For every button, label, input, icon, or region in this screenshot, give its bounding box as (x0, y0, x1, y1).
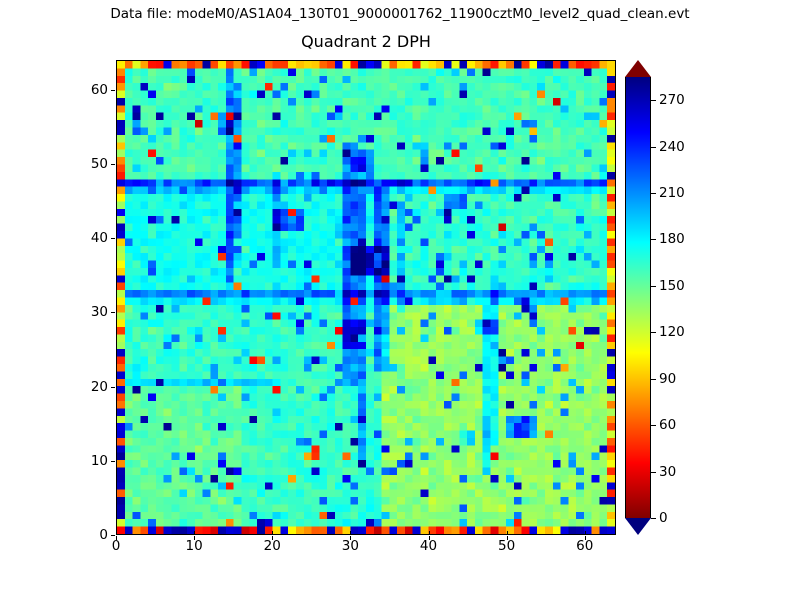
y-axis-tick-labels: 0102030405060 (56, 60, 111, 535)
colorbar-tick-label: 180 (659, 231, 685, 247)
x-axis-tick (585, 531, 586, 535)
y-axis-tick (111, 164, 115, 165)
colorbar-tick-label: 270 (659, 92, 685, 108)
colorbar-tick-label: 0 (659, 510, 668, 526)
y-axis-tick-label: 60 (91, 82, 108, 98)
colorbar-tick-label: 30 (659, 464, 676, 480)
plot-title: Quadrant 2 DPH (116, 32, 616, 51)
colorbar-tick (651, 100, 656, 101)
heatmap-axes[interactable] (116, 60, 616, 535)
x-axis-tick-labels: 0102030405060 (116, 537, 616, 559)
data-file-label: Data file: modeM0/AS1A04_130T01_90000017… (0, 6, 800, 22)
colorbar-tick (651, 332, 656, 333)
heatmap-image[interactable] (117, 61, 615, 534)
colorbar-tick-label: 90 (659, 371, 676, 387)
colorbar-tick-label: 240 (659, 139, 685, 155)
colorbar-tick-label: 60 (659, 417, 676, 433)
x-axis-tick (272, 531, 273, 535)
x-axis-tick (507, 531, 508, 535)
y-axis-tick-label: 20 (91, 379, 108, 395)
colorbar-tick-labels: 0306090120150180210240270 (625, 60, 695, 535)
x-axis-tick-label: 20 (264, 538, 281, 554)
x-axis-tick-label: 0 (112, 538, 121, 554)
colorbar-tick (651, 472, 656, 473)
x-axis-tick-label: 10 (186, 538, 203, 554)
x-axis-tick-label: 60 (576, 538, 593, 554)
y-axis-tick (111, 387, 115, 388)
colorbar-tick (651, 239, 656, 240)
colorbar-tick-label: 210 (659, 185, 685, 201)
y-axis-tick-label: 50 (91, 156, 108, 172)
y-axis-tick (111, 312, 115, 313)
x-axis-tick (429, 531, 430, 535)
colorbar-tick-label: 150 (659, 278, 685, 294)
y-axis-tick (111, 238, 115, 239)
x-axis-tick-label: 40 (420, 538, 437, 554)
x-axis-tick-marks (116, 535, 616, 536)
y-axis-tick-label: 10 (91, 453, 108, 469)
x-axis-tick (350, 531, 351, 535)
y-axis-tick (111, 535, 115, 536)
y-axis-tick-label: 30 (91, 304, 108, 320)
colorbar-tick (651, 518, 656, 519)
colorbar-tick (651, 379, 656, 380)
x-axis-tick-label: 50 (498, 538, 515, 554)
colorbar-tick-label: 120 (659, 324, 685, 340)
matplotlib-figure: Data file: modeM0/AS1A04_130T01_90000017… (0, 0, 800, 600)
y-axis-tick-marks (116, 60, 117, 535)
colorbar-tick (651, 286, 656, 287)
y-axis-tick (111, 461, 115, 462)
colorbar-tick (651, 147, 656, 148)
x-axis-tick (194, 531, 195, 535)
y-axis-tick-label: 0 (99, 527, 108, 543)
colorbar-tick (651, 425, 656, 426)
x-axis-tick-label: 30 (342, 538, 359, 554)
colorbar-tick (651, 193, 656, 194)
y-axis-tick (111, 90, 115, 91)
y-axis-tick-label: 40 (91, 230, 108, 246)
